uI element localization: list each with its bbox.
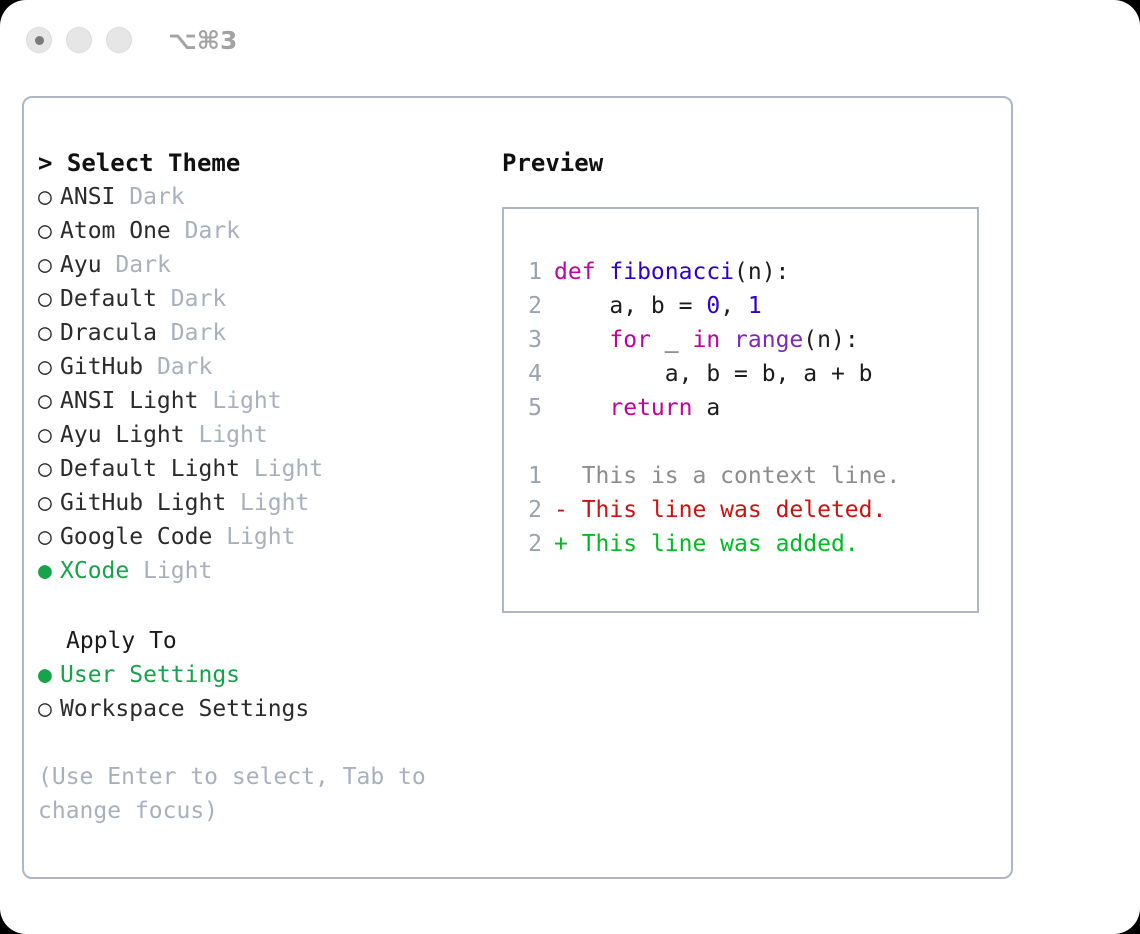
radio-unselected-icon: ○	[38, 180, 60, 214]
code-token	[554, 327, 609, 353]
main-panel: > Select Theme ○ANSI Dark○Atom One Dark○…	[22, 96, 1013, 879]
code-line: 2 a, b = 0, 1	[518, 289, 977, 323]
select-theme-heading: > Select Theme	[38, 146, 508, 180]
apply-to-option-label: User Settings	[60, 662, 240, 688]
radio-unselected-icon: ○	[38, 486, 60, 520]
window-dot-active[interactable]	[26, 27, 52, 53]
code-token: def	[554, 259, 609, 285]
code-line-number: 5	[518, 391, 542, 425]
theme-option-kind: Light	[240, 490, 309, 516]
theme-option-kind: Dark	[157, 354, 212, 380]
theme-option-xcode[interactable]: ●XCode Light	[38, 554, 508, 588]
radio-unselected-icon: ○	[38, 316, 60, 350]
diff-marker: -	[554, 497, 582, 523]
radio-unselected-icon: ○	[38, 350, 60, 384]
code-line-number: 2	[518, 289, 542, 323]
theme-option-github[interactable]: ○GitHub Dark	[38, 350, 508, 384]
code-token: a	[692, 395, 720, 421]
diff-text: This line was deleted.	[582, 497, 887, 523]
code-line: 4 a, b = b, a + b	[518, 357, 977, 391]
theme-option-atom-one[interactable]: ○Atom One Dark	[38, 214, 508, 248]
diff-marker: +	[554, 531, 582, 557]
code-token: in	[692, 327, 720, 353]
code-token: a, b = b, a + b	[554, 361, 873, 387]
window-controls	[26, 27, 132, 53]
theme-option-dracula[interactable]: ○Dracula Dark	[38, 316, 508, 350]
code-token: ,	[720, 293, 748, 319]
diff-line-number: 2	[518, 527, 542, 561]
code-token: return	[609, 395, 692, 421]
list-spacer	[38, 588, 508, 624]
code-token: 0	[706, 293, 720, 319]
diff-text: This line was added.	[582, 531, 859, 557]
theme-option-default-light[interactable]: ○Default Light Light	[38, 452, 508, 486]
diff-line-number: 1	[518, 459, 542, 493]
theme-option-name: Google Code	[60, 524, 212, 550]
theme-option-ayu-light[interactable]: ○Ayu Light Light	[38, 418, 508, 452]
hint-spacer	[38, 726, 508, 760]
theme-option-kind: Dark	[171, 286, 226, 312]
diff-line: 2- This line was deleted.	[518, 493, 977, 527]
code-token: for	[609, 327, 651, 353]
theme-option-name: Default Light	[60, 456, 240, 482]
window-dot-active-inner	[35, 36, 44, 45]
code-line-number: 3	[518, 323, 542, 357]
theme-option-name: XCode	[60, 558, 129, 584]
code-token: fibonacci	[609, 259, 734, 285]
keyboard-shortcut-label: ⌥⌘3	[168, 26, 237, 55]
theme-option-google-code[interactable]: ○Google Code Light	[38, 520, 508, 554]
apply-to-list: ●User Settings○Workspace Settings	[38, 658, 508, 726]
code-token	[720, 327, 734, 353]
apply-to-option-user-settings[interactable]: ●User Settings	[38, 658, 508, 692]
theme-option-ayu[interactable]: ○Ayu Dark	[38, 248, 508, 282]
theme-option-github-light[interactable]: ○GitHub Light Light	[38, 486, 508, 520]
diff-marker	[554, 463, 582, 489]
radio-unselected-icon: ○	[38, 418, 60, 452]
radio-unselected-icon: ○	[38, 214, 60, 248]
code-preview: 1def fibonacci(n):2 a, b = 0, 13 for _ i…	[518, 255, 977, 425]
diff-preview: 1 This is a context line.2- This line wa…	[518, 459, 977, 561]
theme-option-name: Ayu	[60, 252, 102, 278]
code-line: 5 return a	[518, 391, 977, 425]
theme-option-name: GitHub	[60, 354, 143, 380]
code-token: 1	[748, 293, 762, 319]
diff-line: 1 This is a context line.	[518, 459, 977, 493]
radio-selected-icon: ●	[38, 658, 60, 692]
select-theme-heading-prefix: >	[38, 149, 67, 177]
code-token: a, b =	[554, 293, 706, 319]
theme-option-ansi-light[interactable]: ○ANSI Light Light	[38, 384, 508, 418]
window-dot-3[interactable]	[106, 27, 132, 53]
diff-text: This is a context line.	[582, 463, 901, 489]
radio-unselected-icon: ○	[38, 520, 60, 554]
theme-option-default[interactable]: ○Default Dark	[38, 282, 508, 316]
code-token: (n):	[803, 327, 858, 353]
theme-option-kind: Light	[212, 388, 281, 414]
theme-list: ○ANSI Dark○Atom One Dark○Ayu Dark○Defaul…	[38, 180, 508, 588]
code-token: range	[734, 327, 803, 353]
code-token	[554, 395, 609, 421]
theme-option-kind: Light	[226, 524, 295, 550]
radio-unselected-icon: ○	[38, 248, 60, 282]
theme-option-name: Atom One	[60, 218, 171, 244]
theme-option-kind: Dark	[171, 320, 226, 346]
window-titlebar: ⌥⌘3	[0, 0, 1140, 80]
theme-selection-column: > Select Theme ○ANSI Dark○Atom One Dark○…	[38, 146, 508, 828]
radio-unselected-icon: ○	[38, 282, 60, 316]
window-dot-2[interactable]	[66, 27, 92, 53]
preview-box: 1def fibonacci(n):2 a, b = 0, 13 for _ i…	[502, 207, 979, 613]
apply-to-option-label: Workspace Settings	[60, 696, 309, 722]
theme-option-kind: Light	[143, 558, 212, 584]
preview-column: Preview 1def fibonacci(n):2 a, b = 0, 13…	[502, 146, 992, 613]
theme-option-name: ANSI	[60, 184, 115, 210]
theme-option-kind: Light	[254, 456, 323, 482]
radio-selected-icon: ●	[38, 554, 60, 588]
preview-heading: Preview	[502, 146, 992, 180]
radio-unselected-icon: ○	[38, 452, 60, 486]
code-token: _	[651, 327, 693, 353]
theme-option-kind: Dark	[129, 184, 184, 210]
apply-to-heading: Apply To	[38, 624, 508, 658]
code-line-number: 4	[518, 357, 542, 391]
theme-option-name: Default	[60, 286, 157, 312]
theme-option-name: Dracula	[60, 320, 157, 346]
theme-option-kind: Dark	[185, 218, 240, 244]
radio-unselected-icon: ○	[38, 692, 60, 726]
theme-option-ansi[interactable]: ○ANSI Dark	[38, 180, 508, 214]
code-token: (n):	[734, 259, 789, 285]
diff-line-number: 2	[518, 493, 542, 527]
diff-line: 2+ This line was added.	[518, 527, 977, 561]
theme-option-name: GitHub Light	[60, 490, 226, 516]
app-window: ⌥⌘3 > Select Theme ○ANSI Dark○Atom One D…	[0, 0, 1140, 934]
apply-to-option-workspace-settings[interactable]: ○Workspace Settings	[38, 692, 508, 726]
theme-option-kind: Dark	[115, 252, 170, 278]
select-theme-heading-text: Select Theme	[67, 149, 240, 177]
theme-option-kind: Light	[198, 422, 267, 448]
code-diff-gap	[518, 425, 977, 459]
theme-option-name: ANSI Light	[60, 388, 198, 414]
code-line: 3 for _ in range(n):	[518, 323, 977, 357]
code-line: 1def fibonacci(n):	[518, 255, 977, 289]
keyboard-hint: (Use Enter to select, Tab to change focu…	[38, 760, 458, 828]
theme-option-name: Ayu Light	[60, 422, 185, 448]
code-line-number: 1	[518, 255, 542, 289]
radio-unselected-icon: ○	[38, 384, 60, 418]
